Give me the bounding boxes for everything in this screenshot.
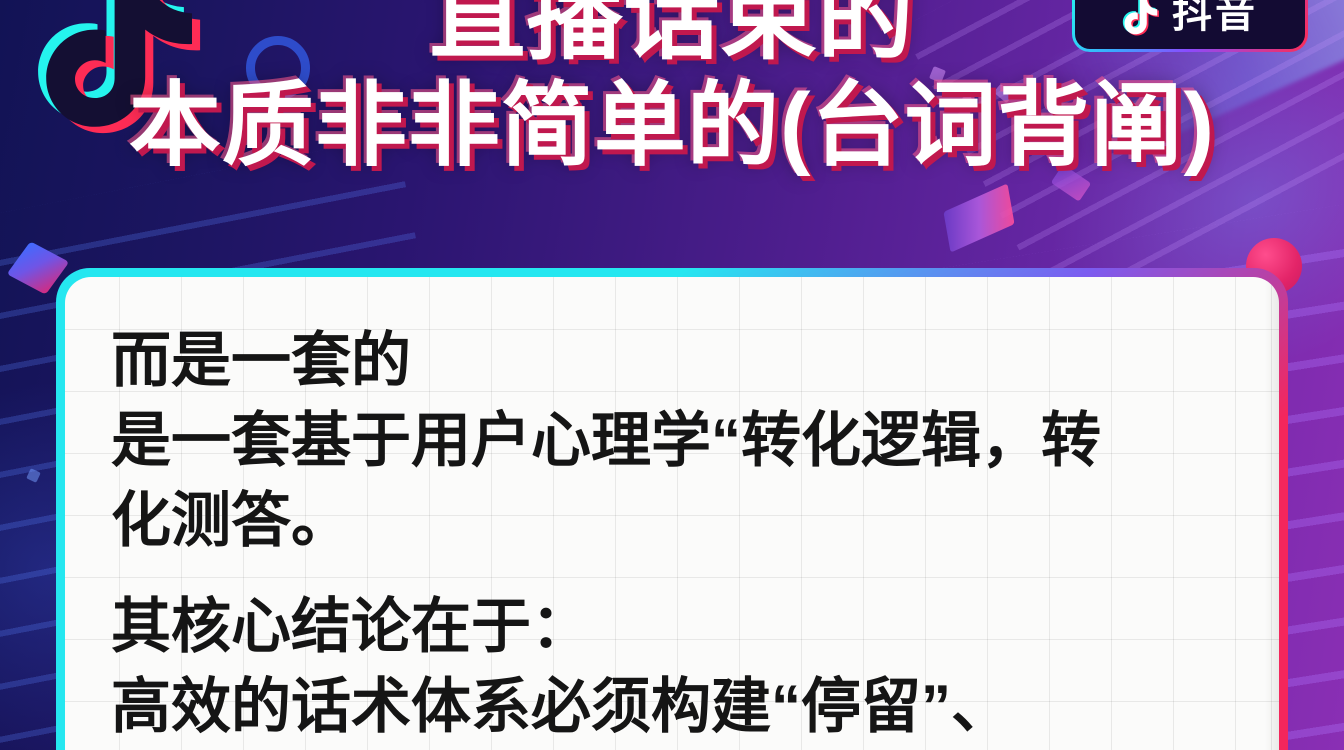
card-p1-line-3: 化测答。 xyxy=(111,481,1237,561)
headline-line-2: 本质非非简单的(台词背阐) xyxy=(0,74,1344,178)
card-p1-line-2: 是一套基于用户心理学“转化逻辑，转 xyxy=(111,401,1237,481)
headline: 直播话束的 本质非非简单的(台词背阐) xyxy=(0,0,1344,178)
note-card: 而是一套的 是一套基于用户心理学“转化逻辑，转 化测答。 其核心结论在于： 高效… xyxy=(56,268,1288,750)
sparkle-decoration xyxy=(26,468,41,483)
poster-canvas: 抖音 直播话束的 本质非非简单的(台词背阐) 而是一套的 是一套基于用户心理学“… xyxy=(0,0,1344,750)
card-paragraph-1: 而是一套的 是一套基于用户心理学“转化逻辑，转 化测答。 xyxy=(111,321,1237,561)
note-card-paper: 而是一套的 是一套基于用户心理学“转化逻辑，转 化测答。 其核心结论在于： 高效… xyxy=(65,277,1279,750)
card-p1-line-1: 而是一套的 xyxy=(111,321,1237,401)
paper-edge-shadow xyxy=(1265,277,1279,750)
headline-line-1: 直播话束的 xyxy=(0,0,1344,70)
card-p2-line-1: 其核心结论在于： xyxy=(111,587,1237,667)
card-p2-line-2: 高效的话术体系必须构建“停留”、 xyxy=(111,667,1237,747)
card-paragraph-2: 其核心结论在于： 高效的话术体系必须构建“停留”、 xyxy=(111,587,1237,747)
shard-decoration-a xyxy=(943,183,1014,252)
